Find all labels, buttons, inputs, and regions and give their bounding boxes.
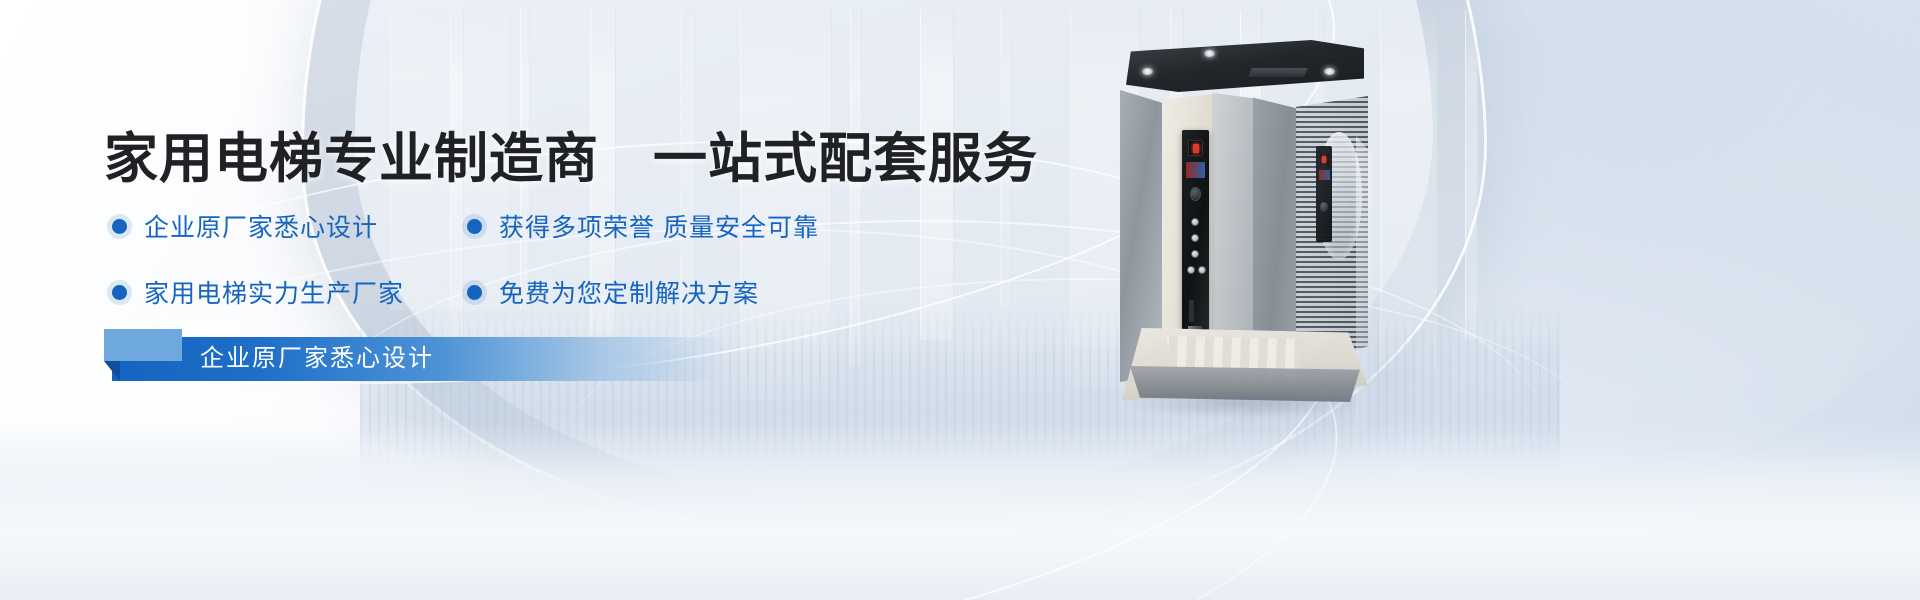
cabin-ground-shadow	[1126, 392, 1364, 418]
elevator-control-panel	[1182, 130, 1209, 340]
ceiling-spotlight-icon	[1324, 68, 1335, 75]
door-close-button-icon[interactable]	[1198, 266, 1206, 274]
panel-speaker-icon	[1190, 187, 1201, 201]
headline-primary: 家用电梯专业制造商	[104, 129, 599, 189]
dot-bullet-icon	[467, 285, 482, 300]
ceiling-vent	[1248, 68, 1308, 77]
feature-label: 免费为您定制解决方案	[499, 274, 759, 310]
feature-item-1: 企业原厂家悉心设计	[112, 208, 467, 244]
dot-bullet-icon	[112, 285, 127, 300]
feature-row-2: 家用电梯实力生产厂家 免费为您定制解决方案	[112, 274, 972, 310]
ribbon-accent-tab	[104, 329, 182, 361]
promo-banner: 家用电梯专业制造商 一站式配套服务 企业原厂家悉心设计 获得多项荣誉 质量安全可…	[0, 0, 1920, 600]
panel-brand-strip	[1319, 170, 1330, 180]
feature-label: 获得多项荣誉 质量安全可靠	[499, 208, 819, 244]
ceiling-spotlight-icon	[1204, 50, 1215, 57]
banner-content: 家用电梯专业制造商 一站式配套服务 企业原厂家悉心设计 获得多项荣誉 质量安全可…	[104, 0, 1104, 600]
feature-row-1: 企业原厂家悉心设计 获得多项荣誉 质量安全可靠	[112, 208, 972, 244]
banner-headline: 家用电梯专业制造商 一站式配套服务	[104, 114, 1038, 193]
floor-button-icon[interactable]	[1191, 218, 1199, 226]
glass-column	[1465, 10, 1478, 340]
cabin-glass-edge	[1356, 136, 1372, 436]
floor-button-icon[interactable]	[1191, 234, 1199, 242]
feature-item-3: 家用电梯实力生产厂家	[112, 274, 467, 310]
ceiling-spotlight-icon	[1142, 68, 1153, 75]
ribbon-label: 企业原厂家悉心设计	[200, 337, 434, 381]
dot-bullet-icon	[112, 219, 127, 234]
mirrored-control-panel	[1316, 146, 1332, 242]
dot-bullet-icon	[467, 219, 482, 234]
door-open-button-icon[interactable]	[1187, 266, 1195, 274]
feature-list: 企业原厂家悉心设计 获得多项荣誉 质量安全可靠 家用电梯实力生产厂家 免费为您定…	[112, 208, 972, 340]
ribbon-tag: 企业原厂家悉心设计	[104, 337, 724, 381]
floor-button-icon[interactable]	[1191, 250, 1199, 258]
panel-speaker-icon	[1320, 202, 1328, 212]
floor-display-icon	[1188, 140, 1203, 156]
feature-label: 家用电梯实力生产厂家	[144, 274, 404, 310]
feature-label: 企业原厂家悉心设计	[144, 208, 378, 244]
feature-item-4: 免费为您定制解决方案	[467, 274, 759, 310]
panel-lower-slot	[1189, 300, 1194, 322]
panel-brand-strip	[1186, 162, 1205, 178]
feature-item-2: 获得多项荣誉 质量安全可靠	[467, 208, 819, 244]
headline-secondary: 一站式配套服务	[653, 129, 1038, 189]
elevator-ceiling	[1126, 40, 1364, 92]
home-elevator-cabin	[1120, 40, 1370, 425]
floor-display-icon	[1320, 154, 1329, 165]
